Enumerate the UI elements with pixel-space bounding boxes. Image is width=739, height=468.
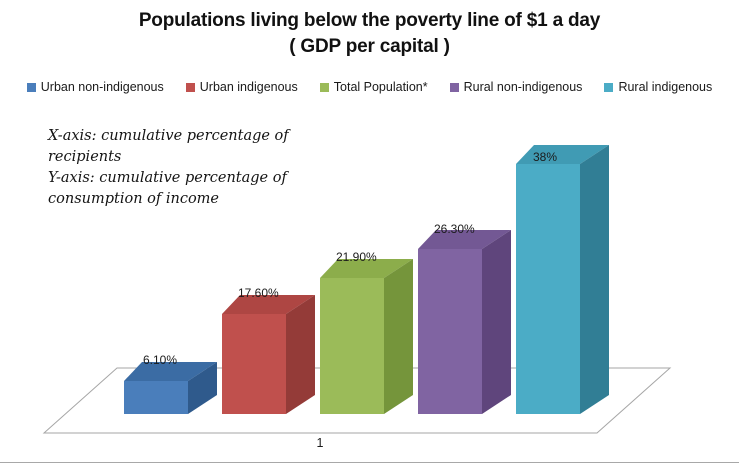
- bar-3d-shape: [320, 259, 413, 414]
- plot-area: 6.10% 17.60% 21.90%: [0, 0, 739, 468]
- bar-value-label-rural-indigenous: 38%: [533, 150, 557, 164]
- bar-rural-indigenous[interactable]: [516, 145, 609, 414]
- bar-value-label-urban-indigenous: 17.60%: [238, 286, 279, 300]
- bar-value-label-urban-non-indigenous: 6.10%: [143, 353, 177, 367]
- x-axis-category-label: 1: [300, 436, 340, 450]
- bar-side-face: [580, 145, 609, 414]
- bar-front-face: [222, 314, 286, 414]
- bar-front-face: [124, 381, 188, 414]
- bar-3d-shape: [418, 230, 511, 414]
- bar-urban-non-indigenous[interactable]: [124, 362, 217, 414]
- bar-front-face: [516, 164, 580, 414]
- bar-side-face: [286, 295, 315, 414]
- bar-total-population[interactable]: [320, 259, 413, 414]
- bottom-divider: [0, 462, 739, 463]
- bar-3d-shape: [124, 362, 217, 414]
- bar-side-face: [384, 259, 413, 414]
- bar-side-face: [482, 230, 511, 414]
- bar-3d-shape: [516, 145, 609, 414]
- bar-front-face: [418, 249, 482, 414]
- bar-value-label-rural-non-indigenous: 26.30%: [434, 222, 475, 236]
- chart-container: Populations living below the poverty lin…: [0, 0, 739, 468]
- bar-rural-non-indigenous[interactable]: [418, 230, 511, 414]
- bar-3d-shape: [222, 295, 315, 414]
- bar-front-face: [320, 278, 384, 414]
- bar-value-label-total-population: 21.90%: [336, 250, 377, 264]
- bar-urban-indigenous[interactable]: [222, 295, 315, 414]
